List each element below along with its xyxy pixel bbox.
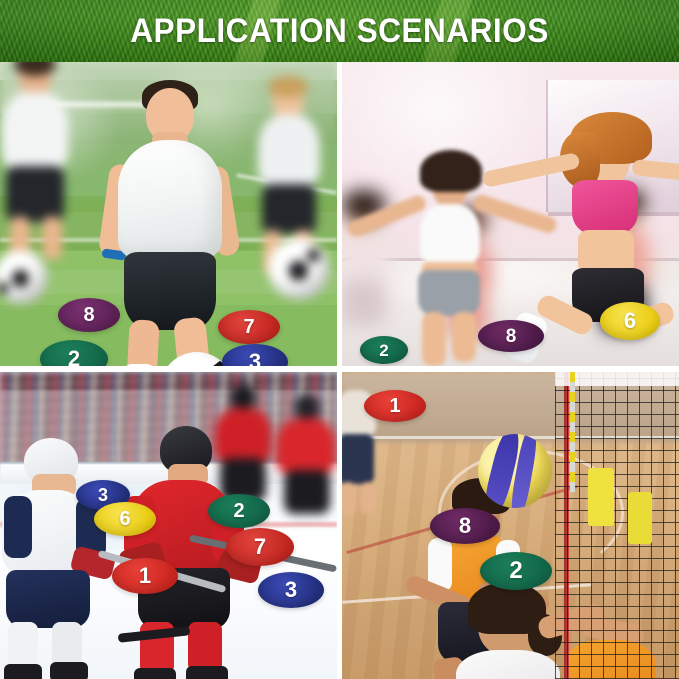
marker-number: 8: [83, 305, 94, 325]
marker-number: 3: [98, 486, 108, 504]
floor-marker-6: 6: [600, 302, 660, 340]
floor-marker-3-lower: 3: [258, 572, 324, 608]
soccer-ball: [268, 238, 330, 300]
marker-number: 7: [254, 536, 266, 558]
floor-marker-7: 7: [218, 310, 280, 344]
marker-number: 8: [459, 515, 471, 537]
marker-number: 3: [285, 579, 297, 601]
marker-number: 1: [389, 396, 400, 416]
scenario-grid: 8 7 2 3 1 4: [0, 62, 679, 679]
marker-number: 2: [68, 348, 80, 366]
marker-number: 6: [119, 509, 130, 529]
floor-marker-7: 7: [226, 528, 294, 566]
panel-soccer: 8 7 2 3 1 4: [0, 62, 337, 366]
marker-number: 7: [243, 317, 254, 337]
panel-dance-studio: 2 8 6: [342, 62, 679, 366]
marker-number: 8: [506, 327, 517, 346]
floor-marker-6: 6: [94, 502, 156, 536]
floor-marker-2: 2: [480, 552, 552, 590]
marker-number: 2: [233, 501, 244, 521]
page-title: APPLICATION SCENARIOS: [24, 0, 655, 62]
net-antenna: [570, 372, 575, 492]
header-banner: APPLICATION SCENARIOS: [0, 0, 679, 62]
marker-number: 2: [379, 342, 388, 359]
volleyball: [478, 434, 552, 508]
net-flag: [628, 492, 652, 544]
floor-marker-8: 8: [478, 320, 544, 352]
floor-marker-8: 8: [430, 508, 500, 544]
floor-marker-1: 1: [112, 558, 178, 594]
panel-volleyball: 1 8 2: [342, 372, 679, 679]
floor-marker-8: 8: [58, 298, 120, 332]
net-flag: [588, 468, 614, 526]
marker-number: 3: [249, 351, 261, 366]
marker-number: 1: [139, 565, 151, 587]
marker-number: 2: [509, 559, 522, 583]
floor-marker-1: 1: [364, 390, 426, 422]
floor-marker-2: 2: [208, 494, 270, 528]
marker-number: 6: [624, 310, 636, 332]
application-scenarios-poster: APPLICATION SCENARIOS: [0, 0, 679, 679]
floor-marker-2: 2: [360, 336, 408, 364]
panel-ice-hockey: 3 6 2 7 1 3: [0, 372, 337, 679]
